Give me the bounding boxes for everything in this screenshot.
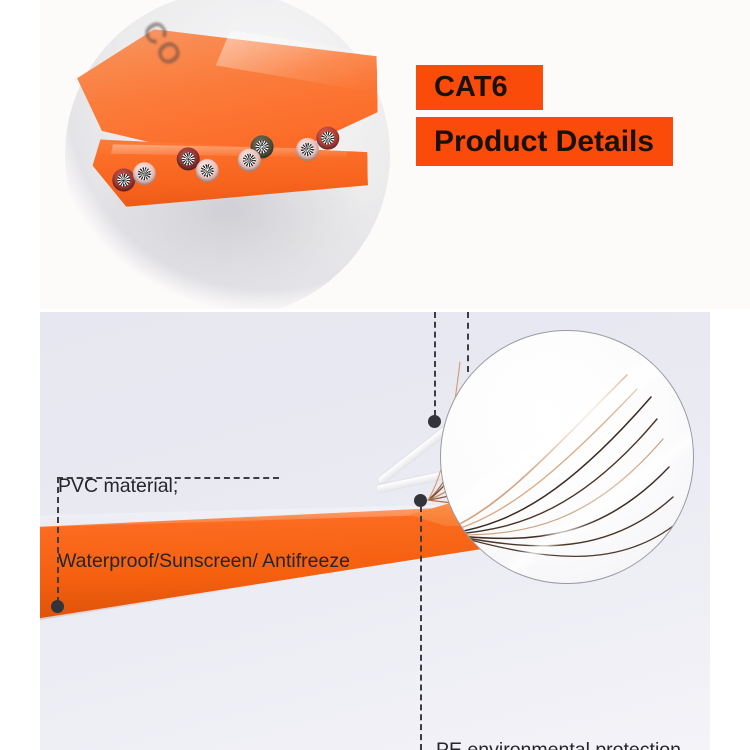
annotation-pe: PE environmental protection flame retard… (436, 688, 681, 750)
conductor (132, 161, 157, 186)
conductor-core (301, 143, 314, 156)
callout-line-pe (420, 506, 422, 750)
twisted-pair-4 (296, 128, 345, 156)
top-photo-panel: CO (40, 0, 750, 309)
annotation-pvc-line-1: PVC material; (58, 474, 350, 499)
conductor-core (137, 167, 151, 181)
callout-line-magnifier (467, 312, 469, 372)
badge-product-details: Product Details (416, 117, 673, 166)
product-detail-image: CO (0, 0, 750, 750)
badge-cat6: CAT6 (416, 65, 543, 110)
twisted-pair-2 (176, 146, 226, 176)
twisted-pair-1 (112, 160, 162, 190)
conductor-core (117, 173, 131, 187)
twisted-pair-3 (238, 136, 287, 164)
conductor-core (181, 152, 195, 166)
annotation-pvc: PVC material; Waterproof/Sunscreen/ Anti… (58, 424, 350, 624)
conductor-core (200, 164, 214, 178)
annotation-pe-line-1: PE environmental protection (436, 738, 681, 750)
conductor (316, 126, 340, 150)
conductor-core (321, 131, 334, 144)
annotation-pvc-line-2: Waterproof/Sunscreen/ Antifreeze (58, 549, 350, 574)
cat6-cable-cross-section: CO (76, 17, 380, 242)
bottom-detail-panel: PVC material; Waterproof/Sunscreen/ Anti… (40, 312, 710, 750)
callout-line-strand (434, 312, 436, 416)
magnifier-circle (440, 330, 694, 584)
conductor-core (242, 153, 256, 167)
callout-dot-strand (428, 415, 441, 428)
